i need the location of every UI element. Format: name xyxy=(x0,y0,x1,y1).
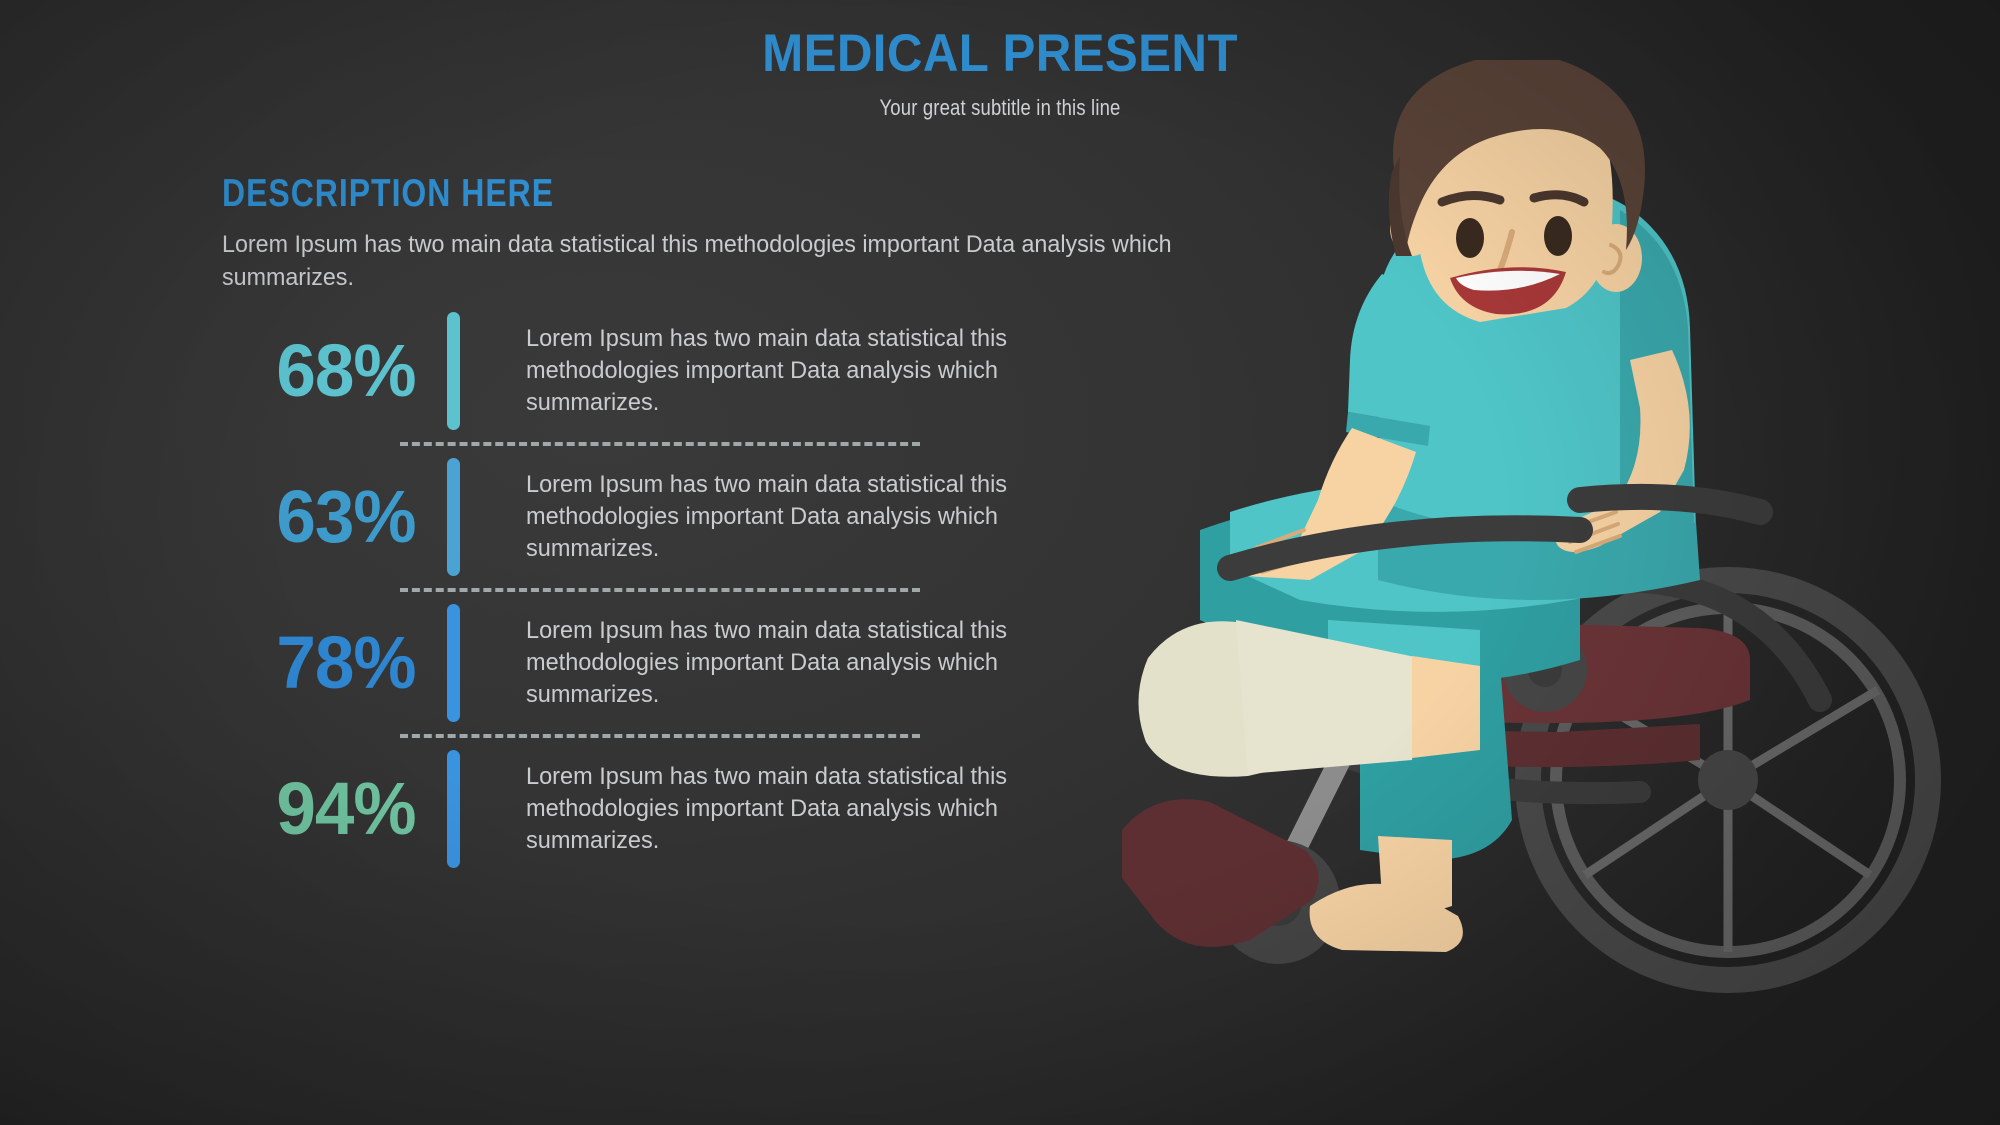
stat-percent: 63% xyxy=(227,480,443,554)
stat-percent: 94% xyxy=(227,772,443,846)
stat-description: Lorem Ipsum has two main data statistica… xyxy=(526,469,1035,565)
stat-percent: 78% xyxy=(227,626,443,700)
stat-description: Lorem Ipsum has two main data statistica… xyxy=(526,761,1035,857)
description-title: DESCRIPTION HERE xyxy=(222,172,1083,216)
stat-bar xyxy=(447,458,460,576)
stat-bar xyxy=(447,750,460,868)
stat-description: Lorem Ipsum has two main data statistica… xyxy=(526,615,1035,711)
illustration-man-in-wheelchair xyxy=(1060,60,2000,1125)
stat-bar xyxy=(447,312,460,430)
slide-canvas: MEDICAL PRESENT Your great subtitle in t… xyxy=(0,0,2000,1125)
stat-percent: 68% xyxy=(227,334,443,408)
stat-bar xyxy=(447,604,460,722)
stat-description: Lorem Ipsum has two main data statistica… xyxy=(526,323,1035,419)
